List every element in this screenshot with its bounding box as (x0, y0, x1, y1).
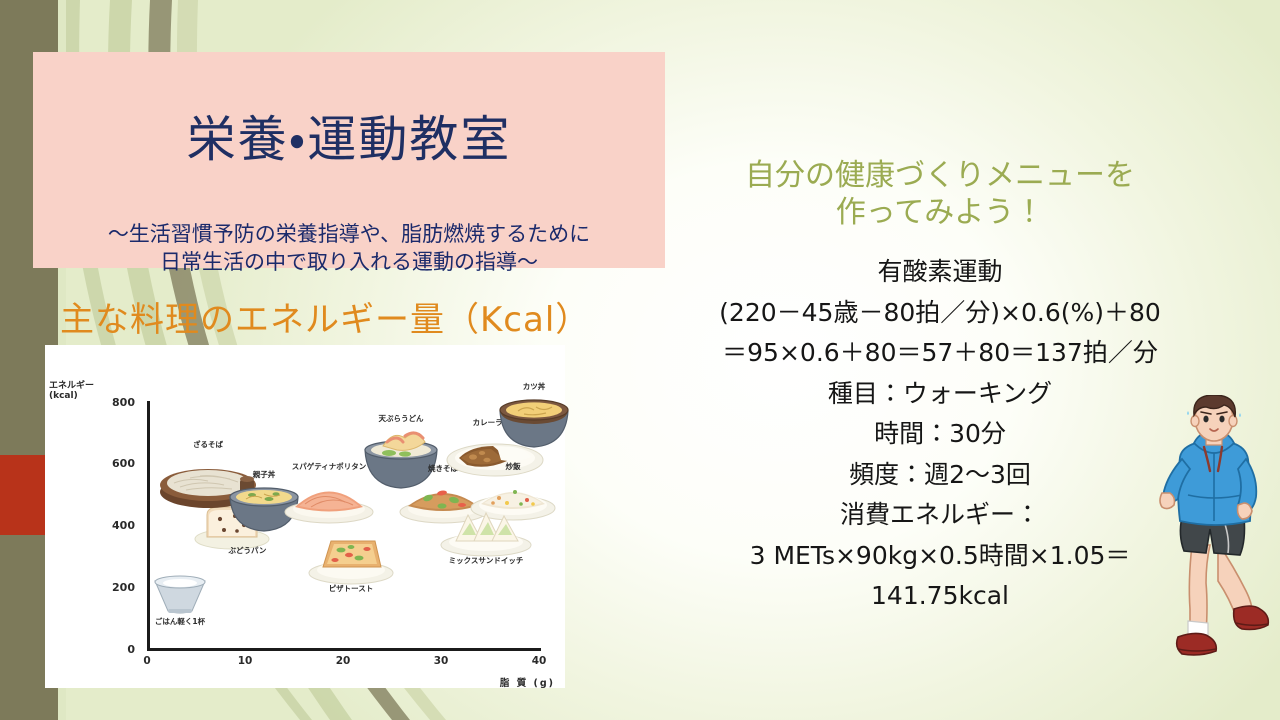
chart-x-axis-line (147, 648, 541, 651)
chart-point-label: カツ丼 (523, 381, 546, 392)
chart-point-label: ごはん軽く1杯 (155, 616, 205, 627)
chart-x-tick-20: 20 (323, 655, 363, 667)
chart-y-tick-800: 800 (89, 396, 135, 409)
chart-point-label: ミックスサンドイッチ (449, 555, 524, 566)
chart-x-tick-10: 10 (225, 655, 265, 667)
title-subtitle: 〜生活習慣予防の栄養指導や、脂肪燃焼するために 日常生活の中で取り入れる運動の指… (33, 220, 665, 277)
chart-x-tick-0: 0 (127, 655, 167, 667)
right-heading-line-1: 自分の健康づくりメニューを (660, 158, 1220, 195)
chart-y-tick-400: 400 (89, 519, 135, 532)
title-subtitle-line-1: 〜生活習慣予防の栄養指導や、脂肪燃焼するために (33, 220, 665, 248)
chart-x-tick-30: 30 (421, 655, 461, 667)
right-heading-line-2: 作ってみよう！ (660, 195, 1220, 232)
chart-plot-area: ごはん軽く1杯 ぶどうパン ざるそば 親子丼 (147, 403, 539, 648)
chart-y-axis-label-unit: (kcal) (49, 391, 78, 401)
chart-heading: 主な料理のエネルギー量（Kcal） (60, 292, 660, 341)
chart-y-tick-200: 200 (89, 581, 135, 594)
chart-point-label: ぶどうパン (229, 545, 267, 556)
chart-y-axis-label-main: エネルギー (49, 381, 94, 391)
right-column-heading: 自分の健康づくりメニューを 作ってみよう！ (660, 158, 1220, 231)
menu-line-formula-2: ＝95×0.6＋80＝57＋80＝137拍／分 (640, 333, 1240, 374)
menu-line-formula-1: (220－45歳－80拍／分)×0.6(%)＋80 (640, 293, 1240, 334)
pizza-toast-icon (307, 533, 395, 590)
chart-x-tick-40: 40 (519, 655, 559, 667)
sandwich-icon (438, 507, 534, 562)
chart-point-label: 親子丼 (253, 469, 276, 480)
chart-point-label: ざるそば (193, 439, 223, 450)
rice-bowl-icon (150, 575, 210, 620)
chart-point-label: ピザトースト (329, 583, 374, 594)
energy-fat-chart: エネルギー (kcal) 800 600 400 200 0 0 10 20 3… (45, 345, 565, 688)
menu-line-aerobic: 有酸素運動 (640, 252, 1240, 293)
title-panel: 栄養・運動教室 〜生活習慣予防の栄養指導や、脂肪燃焼するために 日常生活の中で取… (33, 52, 665, 268)
katsudon-icon (492, 393, 576, 454)
chart-x-axis-label: 脂 質 (g) (500, 675, 555, 689)
chart-y-tick-600: 600 (89, 457, 135, 470)
slide-canvas: 栄養・運動教室 〜生活習慣予防の栄養指導や、脂肪燃焼するために 日常生活の中で取… (0, 0, 1280, 720)
page-title: 栄養・運動教室 (33, 100, 665, 171)
walking-man-illustration (1148, 395, 1280, 663)
chart-point-label: 天ぷらうどん (379, 413, 424, 424)
chart-point-label: 炒飯 (506, 461, 521, 472)
title-subtitle-line-2: 日常生活の中で取り入れる運動の指導〜 (33, 248, 665, 276)
left-red-accent-block (0, 455, 46, 535)
